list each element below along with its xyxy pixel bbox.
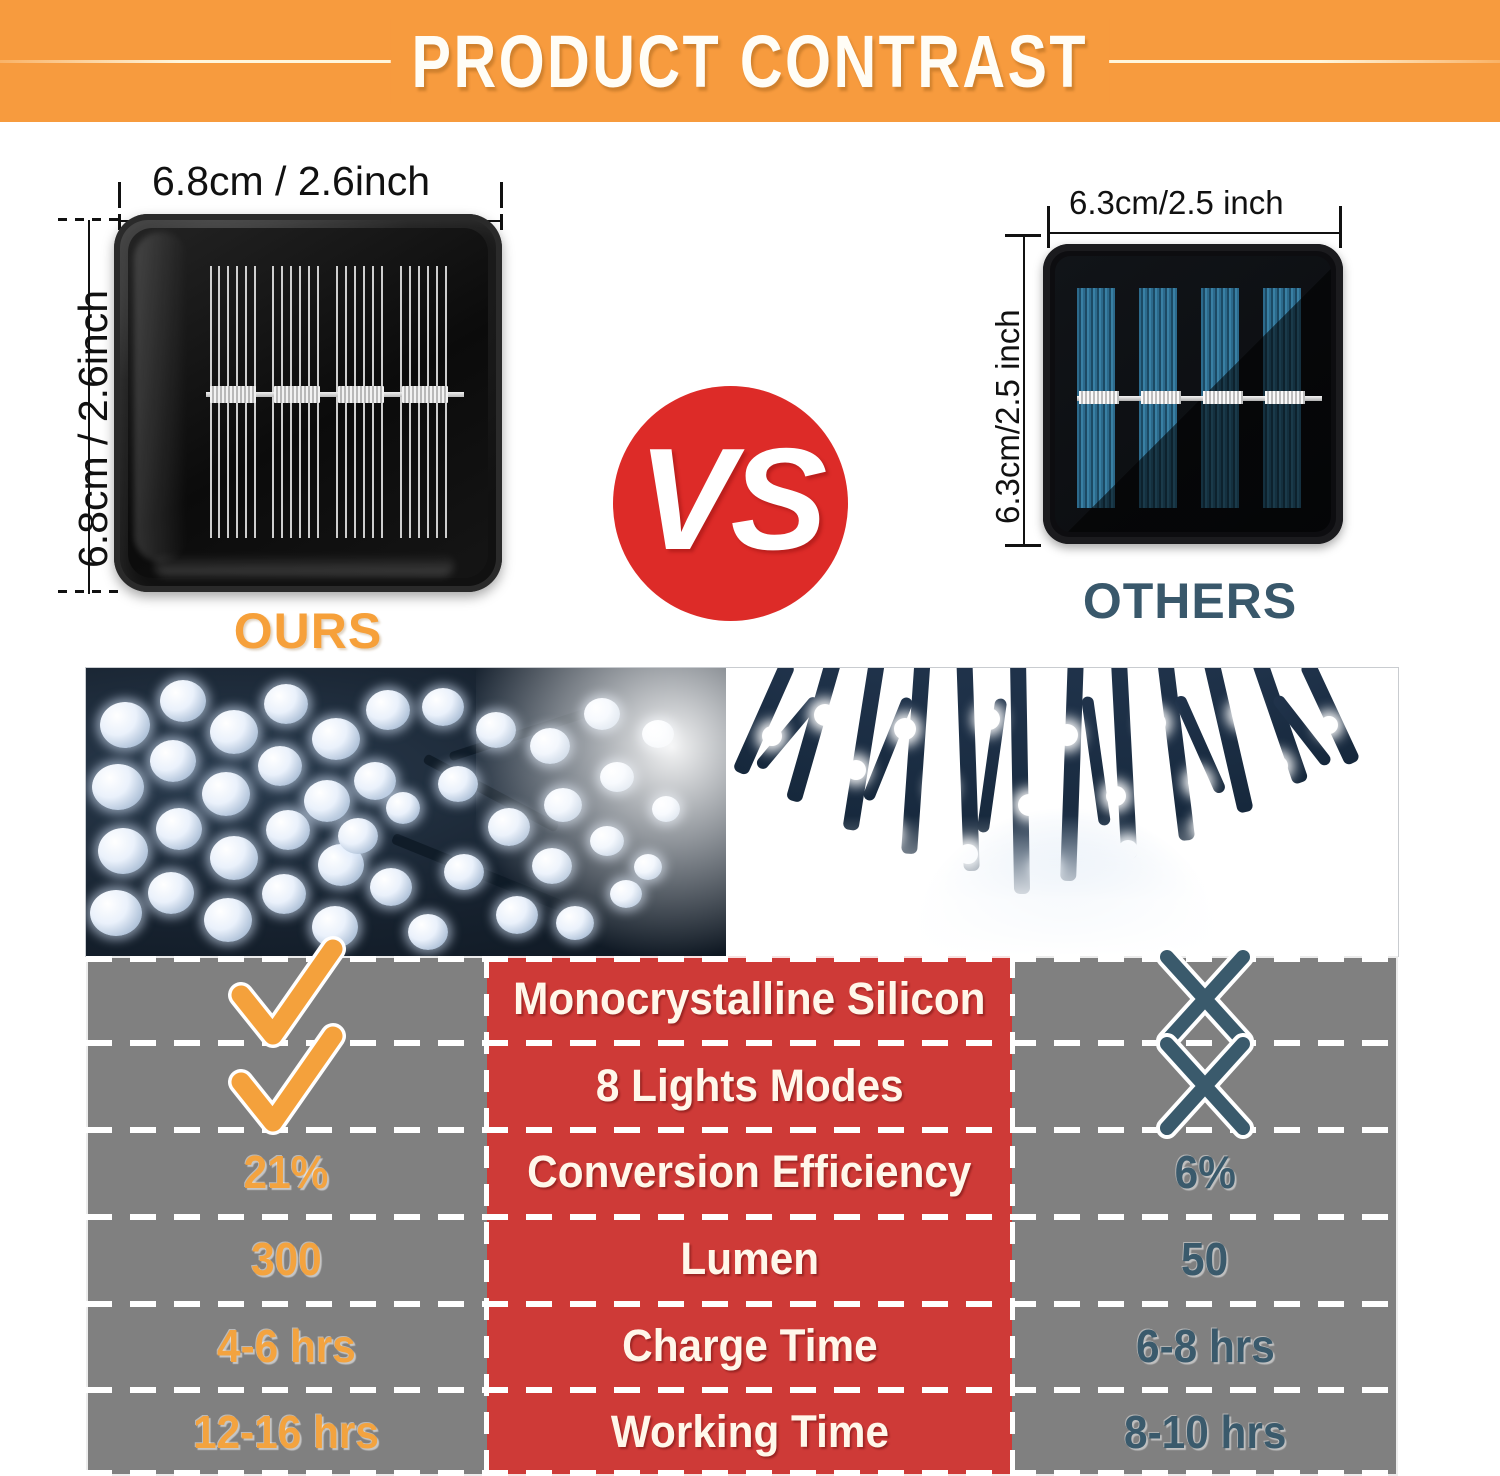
others-value-text: 6-8 hrs	[1136, 1319, 1275, 1373]
others-value-cell: 6-8 hrs	[1012, 1302, 1398, 1389]
table-row: 12-16 hrsWorking Time8-10 hrs	[86, 1389, 1398, 1476]
feature-label-text: Charge Time	[622, 1320, 877, 1372]
feature-label-cell: Working Time	[487, 1389, 1012, 1476]
feature-label-cell: Conversion Efficiency	[487, 1129, 1012, 1216]
ours-value-text: 300	[251, 1232, 322, 1286]
others-value-cell: 50	[1012, 1216, 1398, 1303]
ours-value-text: 21%	[244, 1145, 329, 1199]
others-label: OTHERS	[975, 572, 1405, 630]
panel-comparison-area: 6.8cm / 2.6inch 6.8cm / 2.6inch	[0, 122, 1500, 668]
feature-label-cell: Charge Time	[487, 1302, 1012, 1389]
product-photo-strip	[86, 668, 1398, 956]
feature-label-text: 8 Lights Modes	[596, 1060, 904, 1112]
others-dimension-top-line	[1047, 232, 1342, 234]
table-row: 4-6 hrsCharge Time6-8 hrs	[86, 1302, 1398, 1389]
others-dimension-side-line	[1023, 234, 1025, 546]
others-value-cell: 8-10 hrs	[1012, 1389, 1398, 1476]
ours-dimension-side-dash-top	[58, 218, 120, 221]
ours-dimension-top-tick-right2	[500, 214, 503, 230]
others-value-text: 8-10 hrs	[1124, 1405, 1286, 1459]
ours-dimension-side-dash-bottom	[58, 590, 120, 593]
feature-label-text: Working Time	[610, 1406, 888, 1458]
ours-panel-group: 6.8cm / 2.6inch 6.8cm / 2.6inch	[52, 154, 512, 654]
vs-label: VS	[638, 416, 823, 583]
ours-value-cell	[86, 1043, 487, 1130]
table-row: 21%Conversion Efficiency6%	[86, 1129, 1398, 1216]
page-title: PRODUCT CONTRAST	[0, 0, 1500, 122]
others-solar-panel-image	[1043, 244, 1343, 544]
others-value-text: 50	[1181, 1232, 1228, 1286]
table-row: 300Lumen50	[86, 1216, 1398, 1303]
ours-dimension-top-label: 6.8cm / 2.6inch	[152, 158, 430, 205]
others-dimension-side-label: 6.3cm/2.5 inch	[989, 309, 1027, 524]
ours-value-text: 12-16 hrs	[194, 1405, 380, 1459]
ours-value-cell: 4-6 hrs	[86, 1302, 487, 1389]
ours-dimension-top-tick-left	[118, 182, 121, 208]
others-value-cell	[1012, 1043, 1398, 1130]
feature-label-cell: 8 Lights Modes	[487, 1043, 1012, 1130]
table-row: 8 Lights Modes	[86, 1043, 1398, 1130]
feature-label-cell: Lumen	[487, 1216, 1012, 1303]
comparison-table: Monocrystalline Silicon 8 Lights Modes 2…	[86, 956, 1398, 1476]
others-value-cell: 6%	[1012, 1129, 1398, 1216]
others-led-photo	[726, 668, 1398, 956]
ours-led-photo	[86, 668, 726, 956]
ours-dimension-side-label: 6.8cm / 2.6inch	[70, 290, 117, 568]
ours-label: OURS	[52, 602, 564, 660]
feature-label-text: Lumen	[680, 1233, 819, 1285]
vs-badge: VS	[613, 386, 848, 621]
others-dimension-side-tick-top	[1005, 234, 1041, 237]
ours-dimension-top-tick-right	[500, 182, 503, 208]
page-title-text: PRODUCT CONTRAST	[391, 19, 1109, 104]
check-icon	[227, 1030, 347, 1142]
ours-value-cell: 21%	[86, 1129, 487, 1216]
others-dimension-top-tick-left	[1047, 206, 1050, 248]
others-panel-group: 6.3cm/2.5 inch 6.3cm/2.5 inch	[975, 184, 1375, 654]
ours-value-text: 4-6 hrs	[217, 1319, 356, 1373]
ours-value-cell: 300	[86, 1216, 487, 1303]
header-banner: PRODUCT CONTRAST	[0, 0, 1500, 122]
feature-label-text: Conversion Efficiency	[527, 1146, 971, 1198]
others-dimension-side-tick-bottom	[1005, 544, 1041, 547]
others-dimension-top-label: 6.3cm/2.5 inch	[1069, 184, 1284, 222]
feature-label-text: Monocrystalline Silicon	[513, 973, 985, 1025]
ours-dimension-side-line	[88, 220, 90, 594]
cross-icon	[1145, 1030, 1265, 1142]
others-dimension-top-tick-right	[1339, 206, 1342, 248]
others-value-text: 6%	[1174, 1145, 1235, 1199]
ours-value-cell: 12-16 hrs	[86, 1389, 487, 1476]
ours-solar-panel-image	[114, 214, 502, 592]
feature-label-cell: Monocrystalline Silicon	[487, 956, 1012, 1043]
